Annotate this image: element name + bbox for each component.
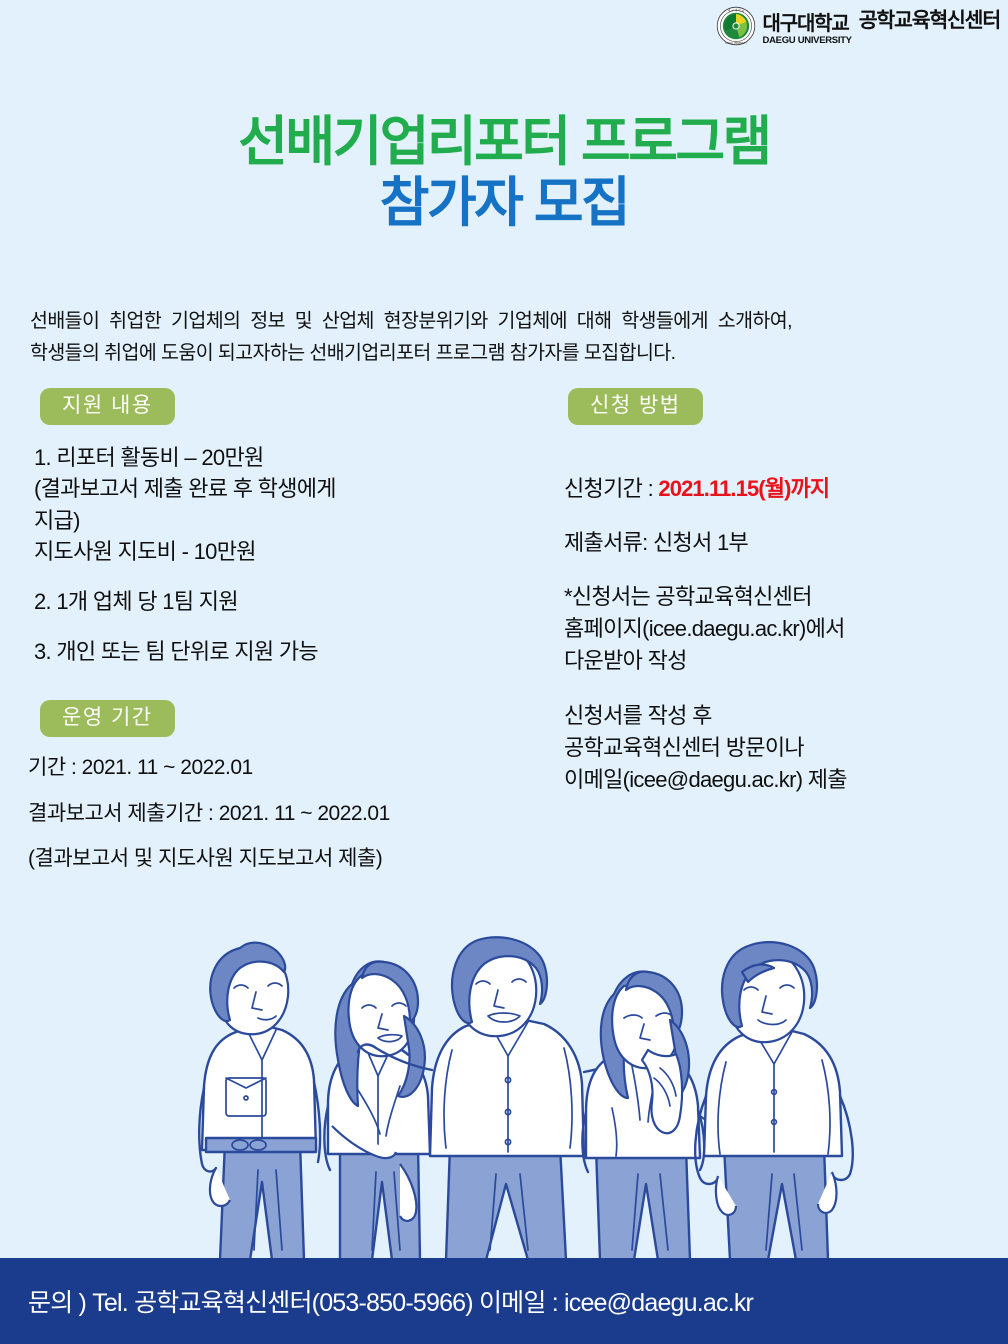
period-line-2: 결과보고서 제출기간 : 2021. 11 ~ 2022.01 <box>28 799 586 829</box>
student-figure-4 <box>582 972 726 1260</box>
support-badge-wrap: 지원 내용 <box>26 388 546 425</box>
support-item-3: 3. 개인 또는 팀 단위로 지원 가능 <box>34 636 546 667</box>
apply-badge-wrap: 신청 방법 <box>552 388 997 425</box>
apply-content: 신청기간 : 2021.11.15(월)까지 제출서류: 신청서 1부 *신청서… <box>552 441 997 796</box>
footer-contact-text: 문의 ) Tel. 공학교육혁신센터(053-850-5966) 이메일 : i… <box>0 1283 753 1319</box>
intro-line-2: 학생들의 취업에 도움이 되고자하는 선배기업리포터 프로그램 참가자를 모집합… <box>30 338 985 370</box>
apply-badge: 신청 방법 <box>568 388 703 425</box>
apply-documents: 제출서류: 신청서 1부 <box>564 527 997 559</box>
intro-paragraph: 선배들이 취업한 기업체의 정보 및 산업체 현장분위기와 기업체에 대해 학생… <box>30 306 985 369</box>
svg-text:대 구 대 학 교: 대 구 대 학 교 <box>727 8 744 12</box>
logo-university-en: DAEGU UNIVERSITY <box>763 36 852 46</box>
poster-title: 선배기업리포터 프로그램 참가자 모집 <box>0 112 1008 235</box>
period-badge: 운영 기간 <box>40 700 175 737</box>
students-illustration-svg: .ln { fill:none; stroke:#2b4a9b; stroke-… <box>0 920 1008 1260</box>
logo-center-name: 공학교육혁신센터 <box>859 3 1000 33</box>
student-figure-2 <box>324 961 430 1260</box>
apply-download-note: *신청서는 공학교육혁신센터 홈페이지(icee.daegu.ac.kr)에서 … <box>564 581 997 677</box>
apply-section: 신청 방법 신청기간 : 2021.11.15(월)까지 제출서류: 신청서 1… <box>552 388 997 820</box>
apply-deadline-label: 신청기간 : <box>564 476 658 501</box>
students-illustration: .ln { fill:none; stroke:#2b4a9b; stroke-… <box>0 920 1008 1260</box>
intro-line-1: 선배들이 취업한 기업체의 정보 및 산업체 현장분위기와 기업체에 대해 학생… <box>30 306 985 338</box>
logo-wordmark: 대구대학교 DAEGU UNIVERSITY 공학교육혁신센터 <box>763 6 1000 46</box>
apply-deadline-value: 2021.11.15(월)까지 <box>658 476 829 501</box>
apply-submit-note: 신청서를 작성 후 공학교육혁신센터 방문이나 이메일(icee@daegu.a… <box>564 700 997 796</box>
period-lines: 기간 : 2021. 11 ~ 2022.01 결과보고서 제출기간 : 202… <box>26 753 586 874</box>
title-line-2: 참가자 모집 <box>0 172 1008 235</box>
student-figure-3 <box>358 937 662 1260</box>
footer-contact-bar: 문의 ) Tel. 공학교육혁신센터(053-850-5966) 이메일 : i… <box>0 1258 1008 1344</box>
student-figure-1 <box>199 943 320 1260</box>
period-section: 운영 기간 기간 : 2021. 11 ~ 2022.01 결과보고서 제출기간… <box>26 700 586 874</box>
support-item-1: 1. 리포터 활동비 – 20만원 (결과보고서 제출 완료 후 학생에게 지급… <box>34 442 546 567</box>
period-badge-wrap: 운영 기간 <box>26 700 586 737</box>
apply-deadline-row: 신청기간 : 2021.11.15(월)까지 <box>564 441 997 505</box>
title-line-1: 선배기업리포터 프로그램 <box>0 112 1008 172</box>
logo-university-block: 대구대학교 DAEGU UNIVERSITY <box>763 14 852 46</box>
logo-university-ko: 대구대학교 <box>763 14 849 34</box>
support-list: 1. 리포터 활동비 – 20만원 (결과보고서 제출 완료 후 학생에게 지급… <box>26 442 546 667</box>
support-item-2: 2. 1개 업체 당 1팀 지원 <box>34 586 546 617</box>
period-line-1: 기간 : 2021. 11 ~ 2022.01 <box>28 753 586 783</box>
header-logo: 대 구 대 학 교 DAEGU UNIVERSITY 대구대학교 DAEGU U… <box>716 4 1000 48</box>
daegu-university-seal-icon: 대 구 대 학 교 DAEGU UNIVERSITY <box>716 6 756 46</box>
period-line-3: (결과보고서 및 지도사원 지도보고서 제출) <box>28 844 586 874</box>
student-figure-5 <box>695 942 853 1260</box>
svg-text:DAEGU UNIVERSITY: DAEGU UNIVERSITY <box>725 42 747 45</box>
support-badge: 지원 내용 <box>40 388 175 425</box>
support-section: 지원 내용 1. 리포터 활동비 – 20만원 (결과보고서 제출 완료 후 학… <box>26 388 546 681</box>
